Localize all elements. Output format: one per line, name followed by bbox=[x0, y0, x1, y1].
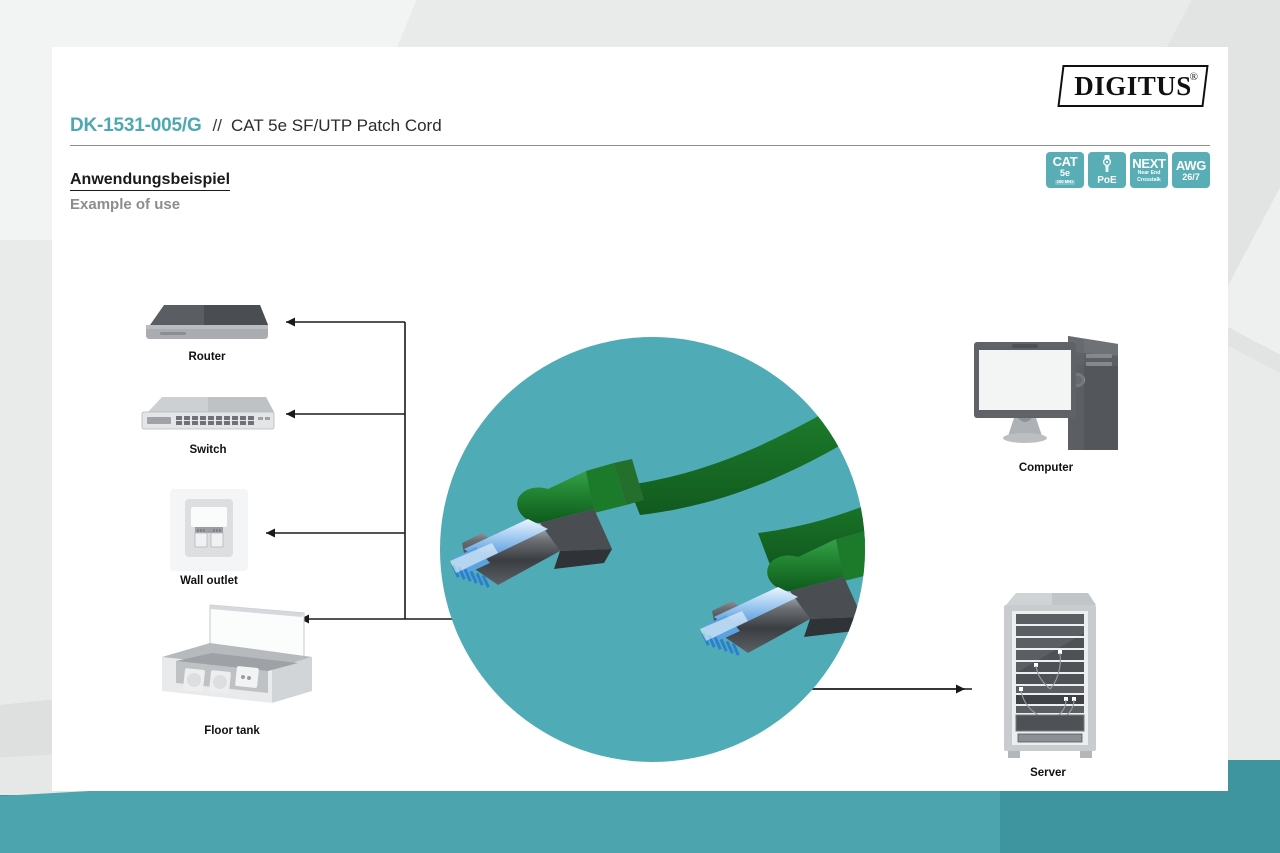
awg-badge-main: AWG bbox=[1176, 159, 1206, 172]
computer-icon bbox=[968, 332, 1124, 457]
next-badge-line2: Crosstalk bbox=[1137, 178, 1161, 184]
next-badge-main: NEXT bbox=[1132, 157, 1165, 170]
cat-badge-tiny: 100 MHz bbox=[1055, 180, 1076, 185]
floor-tank-label: Floor tank bbox=[147, 725, 317, 737]
product-photo bbox=[440, 337, 865, 762]
switch-label: Switch bbox=[138, 444, 278, 456]
floor-tank-icon bbox=[152, 603, 312, 721]
cat5e-badge: CAT 5e 100 MHz bbox=[1046, 152, 1084, 188]
device-computer: Computer bbox=[968, 332, 1124, 462]
section-title-en: Example of use bbox=[70, 196, 230, 213]
title-separator: // bbox=[213, 116, 222, 136]
device-floor-tank: Floor tank bbox=[152, 603, 312, 726]
registered-trademark-icon: ® bbox=[1190, 71, 1198, 83]
server-icon bbox=[992, 587, 1104, 762]
section-heading: Anwendungsbeispiel Example of use bbox=[70, 171, 230, 213]
section-title-de: Anwendungsbeispiel bbox=[70, 171, 230, 191]
awg-badge: AWG 26/7 bbox=[1172, 152, 1210, 188]
device-wall-outlet: Wall outlet bbox=[170, 489, 248, 576]
poe-badge: PoE bbox=[1088, 152, 1126, 188]
cat-badge-sub: 5e bbox=[1060, 169, 1070, 178]
router-icon bbox=[142, 299, 272, 347]
awg-badge-sub: 26/7 bbox=[1182, 173, 1200, 182]
product-sku: DK-1531-005/G bbox=[70, 115, 202, 137]
plug-icon bbox=[1100, 154, 1114, 174]
computer-label: Computer bbox=[968, 462, 1124, 474]
logo-wordmark: DIGITUS bbox=[1060, 65, 1206, 107]
application-diagram: Router bbox=[52, 237, 1228, 797]
cat-badge-main: CAT bbox=[1053, 155, 1078, 168]
digitus-logo: DIGITUS ® bbox=[1060, 65, 1206, 107]
device-server: Server bbox=[992, 587, 1104, 767]
next-badge-line1: Near End bbox=[1138, 171, 1161, 177]
product-hero-circle bbox=[440, 337, 865, 762]
router-label: Router bbox=[142, 351, 272, 363]
wall-outlet-icon bbox=[170, 489, 248, 571]
wall-outlet-label: Wall outlet bbox=[146, 575, 272, 587]
product-name: CAT 5e SF/UTP Patch Cord bbox=[231, 116, 442, 136]
device-switch: Switch bbox=[138, 392, 278, 443]
spec-badge-row: CAT 5e 100 MHz PoE NEXT Near End Crossta… bbox=[1046, 152, 1210, 188]
server-label: Server bbox=[970, 767, 1126, 779]
product-title-row: DK-1531-005/G // CAT 5e SF/UTP Patch Cor… bbox=[70, 115, 1210, 146]
content-card: DIGITUS ® DK-1531-005/G // CAT 5e SF/UTP… bbox=[52, 47, 1228, 791]
switch-icon bbox=[138, 392, 278, 438]
poe-badge-label: PoE bbox=[1097, 176, 1116, 186]
device-router: Router bbox=[142, 299, 272, 352]
next-badge: NEXT Near End Crosstalk bbox=[1130, 152, 1168, 188]
